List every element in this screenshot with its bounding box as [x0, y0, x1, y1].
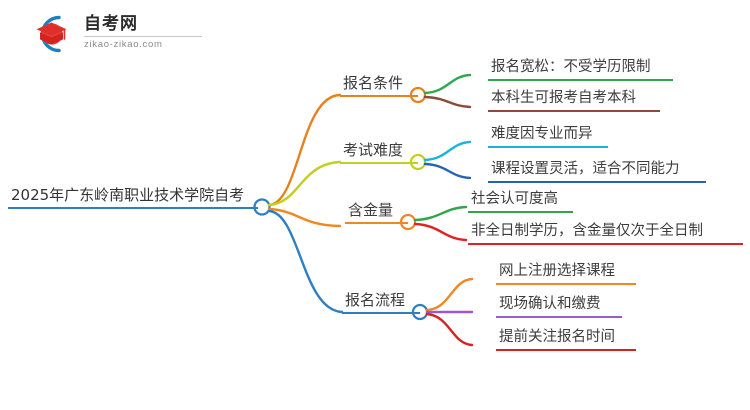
branch-label: 报名条件	[340, 74, 418, 95]
branch-underline	[345, 222, 408, 224]
leaf-node-baoming-kuansong[interactable]: 报名宽松：不受学历限制	[488, 58, 673, 81]
leaf-node-feiquanrizhi[interactable]: 非全日制学历，含金量仅次于全日制	[468, 222, 743, 245]
branch-underline	[342, 312, 420, 314]
leaf-underline	[488, 79, 673, 81]
leaf-label: 现场确认和缴费	[496, 295, 622, 316]
branch-node-baomingliucheng[interactable]: 报名流程	[342, 291, 420, 314]
leaf-underline	[488, 110, 660, 112]
leaf-label: 非全日制学历，含金量仅次于全日制	[468, 222, 743, 243]
edge-root-to-baomingtiaojian	[269, 95, 340, 205]
branch-label: 含金量	[345, 201, 408, 222]
leaf-underline	[496, 349, 636, 351]
leaf-label: 网上注册选择课程	[496, 262, 636, 283]
leaf-underline	[496, 283, 636, 285]
branch-node-hanjinliang[interactable]: 含金量	[345, 201, 408, 224]
edge-branch1-to-leaf1	[425, 75, 470, 93]
edge-branch2-to-leaf1	[425, 142, 470, 160]
branch-label: 考试难度	[340, 141, 418, 162]
leaf-node-nandu-zhuanye[interactable]: 难度因专业而异	[488, 125, 608, 148]
branch-underline	[340, 95, 418, 97]
edge-branch3-to-leaf1	[415, 207, 466, 220]
leaf-underline	[488, 181, 706, 183]
root-node-label: 2025年广东岭南职业技术学院自考	[8, 186, 258, 207]
branch-node-kaoshinandu[interactable]: 考试难度	[340, 141, 418, 164]
leaf-node-xianchang-queren[interactable]: 现场确认和缴费	[496, 295, 622, 318]
edge-branch4-to-leaf3	[427, 314, 472, 345]
leaf-underline	[468, 211, 573, 213]
leaf-node-shehui-renke[interactable]: 社会认可度高	[468, 190, 573, 213]
branch-underline	[340, 162, 418, 164]
leaf-node-wangshang-zhuce[interactable]: 网上注册选择课程	[496, 262, 636, 285]
edge-branch3-to-leaf2	[415, 224, 466, 240]
edge-branch2-to-leaf2	[425, 164, 470, 178]
leaf-underline	[496, 316, 622, 318]
leaf-label: 社会认可度高	[468, 190, 573, 211]
branch-node-baomingtiaojian[interactable]: 报名条件	[340, 74, 418, 97]
leaf-label: 课程设置灵活，适合不同能力	[488, 160, 706, 181]
mindmap-diagram: 2025年广东岭南职业技术学院自考 报名条件 考试难度 含金量 报名流程 报名宽…	[0, 0, 750, 410]
leaf-underline	[488, 146, 608, 148]
leaf-label: 报名宽松：不受学历限制	[488, 58, 673, 79]
leaf-underline	[468, 243, 743, 245]
leaf-label: 本科生可报考自考本科	[488, 89, 660, 110]
leaf-node-kecheng-linghuo[interactable]: 课程设置灵活，适合不同能力	[488, 160, 706, 183]
edge-branch4-to-leaf1	[427, 279, 472, 310]
branch-label: 报名流程	[342, 291, 420, 312]
root-node[interactable]: 2025年广东岭南职业技术学院自考	[8, 186, 258, 209]
leaf-node-tiqian-guanzhu[interactable]: 提前关注报名时间	[496, 328, 636, 351]
root-node-underline	[8, 207, 258, 209]
leaf-node-benkesheng[interactable]: 本科生可报考自考本科	[488, 89, 660, 112]
edge-branch1-to-leaf2	[425, 97, 470, 107]
leaf-label: 提前关注报名时间	[496, 328, 636, 349]
leaf-label: 难度因专业而异	[488, 125, 608, 146]
